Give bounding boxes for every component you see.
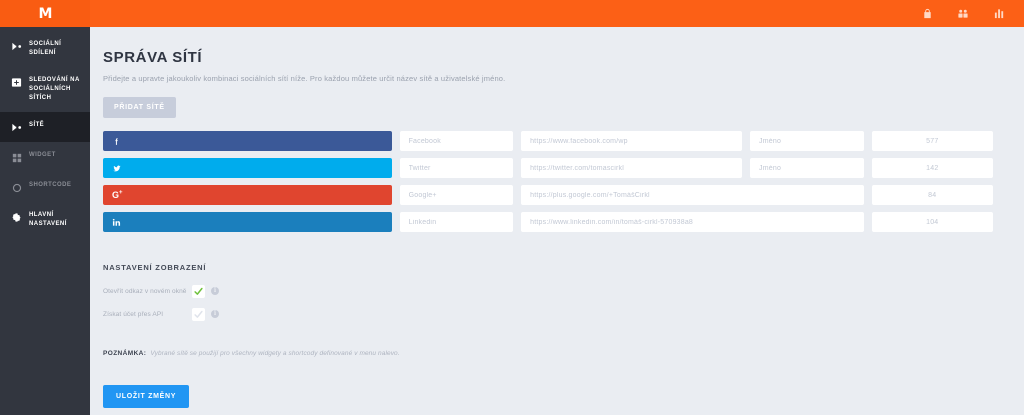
option-open-in-new-window: Otevřít odkaz v novém okně i: [103, 284, 993, 298]
share-icon: [11, 122, 22, 133]
lock-icon[interactable]: [920, 7, 934, 21]
users-icon[interactable]: [956, 7, 970, 21]
display-settings-title: NASTAVENÍ ZOBRAZENÍ: [103, 263, 993, 272]
add-networks-button[interactable]: PŘIDAT SÍTĚ: [103, 97, 176, 118]
app-logo[interactable]: M: [0, 0, 90, 27]
network-count-input-twitter[interactable]: [872, 158, 993, 178]
linkedin-icon: [112, 218, 121, 227]
info-icon[interactable]: i: [211, 287, 219, 295]
network-name-input-googleplus[interactable]: [400, 185, 514, 205]
network-row-twitter: [103, 158, 993, 178]
network-url-input-facebook[interactable]: [521, 131, 742, 151]
sidebar-item-main-settings[interactable]: HLAVNÍ NASTAVENÍ: [0, 202, 90, 238]
sidebar: SOCIÁLNÍ SDÍLENÍ SLEDOVÁNÍ NA SOCIÁLNÍCH…: [0, 27, 90, 415]
twitter-icon: [112, 164, 122, 173]
option-get-account-via-api: Získat účet přes API i: [103, 307, 993, 321]
sidebar-item-shortcode[interactable]: SHORTCODE: [0, 172, 90, 202]
network-badge-googleplus[interactable]: G+: [103, 185, 392, 205]
network-count-input-googleplus[interactable]: [872, 185, 993, 205]
checkbox-get-account-via-api[interactable]: [192, 308, 205, 321]
note: POZNÁMKA:Vybrané sítě se použijí pro vše…: [103, 350, 993, 357]
save-changes-button[interactable]: ULOŽIT ZMĚNY: [103, 385, 189, 408]
chart-icon[interactable]: [992, 7, 1006, 21]
logo-text: M: [39, 6, 52, 22]
info-icon[interactable]: i: [211, 310, 219, 318]
sidebar-item-label: SOCIÁLNÍ SDÍLENÍ: [29, 40, 84, 58]
main-content: SPRÁVA SÍTÍ Přidejte a upravte jakoukoli…: [90, 27, 1024, 415]
note-label: POZNÁMKA:: [103, 350, 146, 357]
network-row-linkedin: [103, 212, 993, 232]
google-plus-icon: G+: [112, 190, 123, 200]
network-name-input-twitter[interactable]: [400, 158, 514, 178]
network-count-input-facebook[interactable]: [872, 131, 993, 151]
sidebar-item-social-sharing[interactable]: SOCIÁLNÍ SDÍLENÍ: [0, 31, 90, 67]
option-label: Získat účet přes API: [103, 311, 192, 318]
share-icon: [11, 41, 22, 52]
page-description: Přidejte a upravte jakoukoliv kombinaci …: [103, 74, 993, 83]
network-badge-twitter[interactable]: [103, 158, 392, 178]
network-username-input-facebook[interactable]: [750, 131, 864, 151]
sidebar-item-social-following[interactable]: SLEDOVÁNÍ NA SOCIÁLNÍCH SÍTÍCH: [0, 67, 90, 112]
shortcode-icon: [11, 182, 22, 193]
sidebar-item-label: SLEDOVÁNÍ NA SOCIÁLNÍCH SÍTÍCH: [29, 76, 84, 103]
sidebar-item-label: WIDGET: [29, 151, 56, 160]
network-name-input-linkedin[interactable]: [400, 212, 514, 232]
network-username-input-twitter[interactable]: [750, 158, 864, 178]
sidebar-item-label: HLAVNÍ NASTAVENÍ: [29, 211, 84, 229]
networks-list: G+: [103, 131, 993, 232]
page-title: SPRÁVA SÍTÍ: [103, 49, 993, 66]
sidebar-item-networks[interactable]: SÍTĚ: [0, 112, 90, 142]
option-label: Otevřít odkaz v novém okně: [103, 288, 192, 295]
network-name-input-facebook[interactable]: [400, 131, 514, 151]
network-row-facebook: [103, 131, 993, 151]
network-row-googleplus: G+: [103, 185, 993, 205]
widget-icon: [11, 152, 22, 163]
checkbox-open-in-new-window[interactable]: [192, 285, 205, 298]
follow-icon: [11, 77, 22, 88]
sidebar-item-widget[interactable]: WIDGET: [0, 142, 90, 172]
network-badge-facebook[interactable]: [103, 131, 392, 151]
network-badge-linkedin[interactable]: [103, 212, 392, 232]
note-text: Vybrané sítě se použijí pro všechny widg…: [150, 350, 399, 357]
network-url-input-googleplus[interactable]: [521, 185, 863, 205]
sidebar-item-label: SHORTCODE: [29, 181, 71, 190]
facebook-icon: [112, 137, 121, 146]
network-count-input-linkedin[interactable]: [872, 212, 993, 232]
network-url-input-twitter[interactable]: [521, 158, 742, 178]
app-root: M: [0, 0, 1024, 415]
top-bar: M: [0, 0, 1024, 27]
gear-icon: [11, 212, 22, 223]
topbar-icon-group: [920, 7, 1024, 21]
sidebar-item-label: SÍTĚ: [29, 121, 44, 130]
network-url-input-linkedin[interactable]: [521, 212, 863, 232]
